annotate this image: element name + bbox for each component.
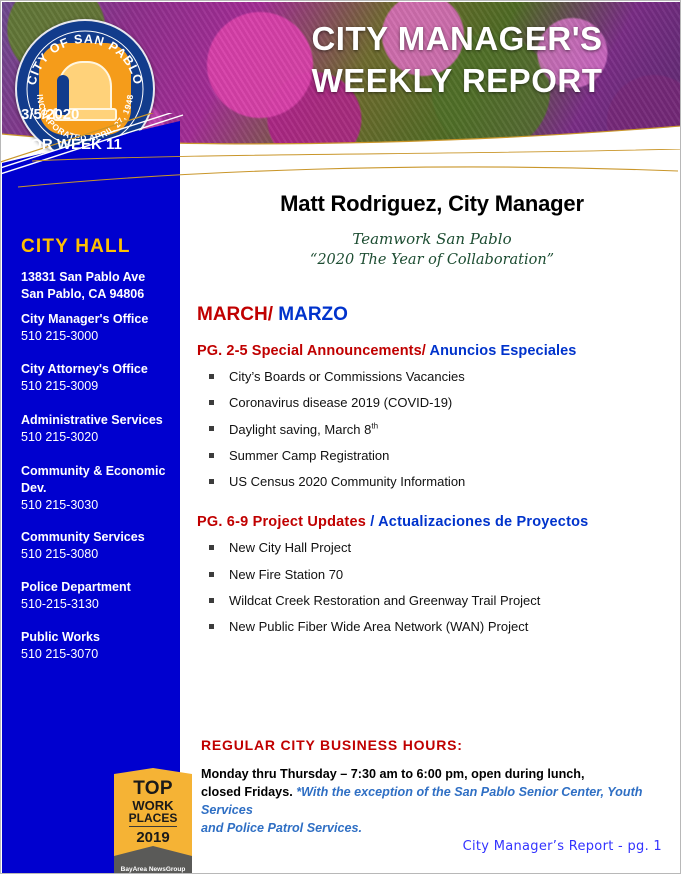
- section-heading-project-updates: PG. 6-9 Project Updates / Actualizacione…: [197, 514, 667, 530]
- section-heading-spanish: Actualizaciones de Proyectos: [378, 514, 588, 530]
- contact-phone: 510 215-3070: [21, 646, 181, 663]
- month-separator: /: [268, 304, 279, 325]
- contact-city-manager: City Manager's Office 510 215-3000: [21, 311, 181, 345]
- contact-name: Community & Economic Dev.: [21, 463, 181, 497]
- contact-name: Community Services: [21, 529, 181, 546]
- project-updates-list: New City Hall Project New Fire Station 7…: [197, 540, 667, 635]
- banner-title-line1: CITY MANAGER'S: [247, 18, 667, 60]
- hours-exception-note-3: Services.: [307, 821, 362, 835]
- badge-year-label: 2019: [136, 830, 169, 846]
- contact-phone: 510 215-3080: [21, 546, 181, 563]
- ordinal-suffix: th: [371, 421, 378, 430]
- list-item: New City Hall Project: [197, 540, 667, 556]
- list-item: New Fire Station 70: [197, 567, 667, 583]
- special-announcements-list: City’s Boards or Commissions Vacancies C…: [197, 369, 667, 491]
- tagline-line-1: Teamwork San Pablo: [197, 229, 667, 250]
- contact-police-department: Police Department 510-215-3130: [21, 579, 181, 613]
- hours-line-1: Monday thru Thursday – 7:30 am to 6:00 p…: [201, 767, 584, 781]
- top-workplaces-badge: BayArea NewsGroup TOP WORK PLACES 2019: [114, 758, 192, 874]
- badge-body: TOP WORK PLACES 2019: [114, 768, 192, 856]
- list-item: Wildcat Creek Restoration and Greenway T…: [197, 593, 667, 609]
- contact-name: City Attorney's Office: [21, 361, 181, 378]
- month-heading: MARCH/ MARZO: [197, 304, 667, 326]
- contact-name: Administrative Services: [21, 412, 181, 429]
- tagline: Teamwork San Pablo “2020 The Year of Col…: [197, 229, 667, 271]
- badge-footer-text: BayArea NewsGroup: [121, 867, 186, 874]
- contact-city-attorney: City Attorney's Office 510 215-3009: [21, 361, 181, 395]
- list-item: New Public Fiber Wide Area Network (WAN)…: [197, 619, 667, 635]
- hours-line-2: closed Fridays.: [201, 785, 296, 799]
- tagline-line-2: “2020 The Year of Collaboration”: [197, 250, 667, 271]
- section-heading-separator: /: [422, 343, 430, 359]
- badge-work-label: WORK: [132, 799, 173, 813]
- month-english: MARCH: [197, 304, 268, 325]
- contact-name: Police Department: [21, 579, 181, 596]
- contact-phone: 510 215-3020: [21, 429, 181, 446]
- contact-community-economic-dev: Community & Economic Dev. 510 215-3030: [21, 463, 181, 513]
- contact-phone: 510 215-3009: [21, 378, 181, 395]
- banner-title: CITY MANAGER'S WEEKLY REPORT: [247, 18, 667, 102]
- business-hours-title: REGULAR CITY BUSINESS HOURS:: [201, 737, 463, 753]
- contact-name: City Manager's Office: [21, 311, 181, 328]
- contact-administrative-services: Administrative Services 510 215-3020: [21, 412, 181, 446]
- city-hall-heading: CITY HALL: [21, 236, 131, 258]
- contact-phone: 510 215-3030: [21, 497, 181, 514]
- weekly-report-page: CITY MANAGER'S WEEKLY REPORT CITY OF SAN…: [0, 0, 681, 874]
- business-hours-body: Monday thru Thursday – 7:30 am to 6:00 p…: [201, 766, 673, 838]
- list-item: City’s Boards or Commissions Vacancies: [197, 369, 667, 385]
- contact-phone: 510-215-3130: [21, 596, 181, 613]
- hours-exception-note-2: and Police Patrol: [201, 821, 307, 835]
- contact-public-works: Public Works 510 215-3070: [21, 629, 181, 663]
- report-date: 3/5/2020: [21, 106, 79, 123]
- address-line-2: San Pablo, CA 94806: [21, 286, 181, 303]
- section-heading-english: PG. 6-9 Project Updates: [197, 514, 370, 530]
- section-heading-separator: /: [370, 514, 378, 530]
- badge-places-label: PLACES: [129, 812, 178, 826]
- month-spanish: MARZO: [278, 304, 348, 325]
- city-hall-address: 13831 San Pablo Ave San Pablo, CA 94806: [21, 269, 181, 303]
- section-heading-english: PG. 2-5 Special Announcements: [197, 343, 422, 359]
- section-heading-spanish: Anuncios Especiales: [430, 343, 577, 359]
- city-manager-name: Matt Rodriguez, City Manager: [197, 191, 667, 217]
- badge-top-label: TOP: [133, 779, 173, 799]
- list-item: Daylight saving, March 8th: [197, 421, 667, 438]
- section-heading-special-announcements: PG. 2-5 Special Announcements/ Anuncios …: [197, 343, 667, 359]
- contact-name: Public Works: [21, 629, 181, 646]
- banner-title-line2: WEEKLY REPORT: [247, 60, 667, 102]
- list-item: US Census 2020 Community Information: [197, 474, 667, 490]
- list-item: Summer Camp Registration: [197, 448, 667, 464]
- main-content: Matt Rodriguez, City Manager Teamwork Sa…: [197, 161, 667, 645]
- address-line-1: 13831 San Pablo Ave: [21, 269, 181, 286]
- list-item-text-daylight-saving: Daylight saving, March 8th: [229, 422, 378, 437]
- contact-community-services: Community Services 510 215-3080: [21, 529, 181, 563]
- page-footer: City Manager’s Report - pg. 1: [463, 839, 662, 854]
- svg-text:CITY OF SAN PABLO: CITY OF SAN PABLO: [25, 32, 146, 87]
- list-item: Coronavirus disease 2019 (COVID-19): [197, 395, 667, 411]
- contact-phone: 510 215-3000: [21, 328, 181, 345]
